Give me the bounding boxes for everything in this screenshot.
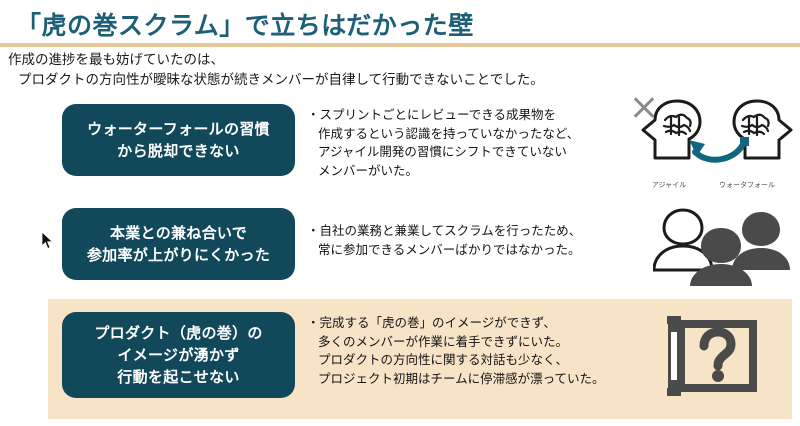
illustration-caption-right: ウォータフォール: [711, 180, 783, 190]
issue-label-pill: プロダクト（虎の巻）の イメージが湧かず 行動を起こせない: [62, 312, 295, 398]
illustration-caption-left: アジャイル: [641, 180, 697, 190]
issue-label-pill: 本業との兼ね合いで 参加率が上がりにくかった: [62, 208, 295, 280]
desc-line: 常に参加できるメンバーばかりではなかった。: [307, 241, 625, 260]
issue-row: 本業との兼ね合いで 参加率が上がりにくかった ・自社の業務と兼業してスクラムを行…: [0, 208, 800, 288]
title-divider: [0, 43, 800, 47]
desc-line: 作成するという認識を持っていなかったなど、: [307, 125, 625, 144]
desc-line: アジャイル開発の習慣にシフトできていない: [307, 143, 625, 162]
desc-line: メンバーがいた。: [307, 162, 625, 181]
lead-line-2: プロダクトの方向性が曖昧な状態が続きメンバーが自律して行動できないことでした。: [8, 70, 544, 90]
page-title: 「虎の巻スクラム」で立ちはだかった壁: [16, 6, 474, 42]
desc-line: ・スプリントごとにレビューできる成果物を: [307, 106, 625, 125]
issue-label-line: 行動を起こせない: [117, 366, 239, 388]
issue-row: ウォーターフォールの習慣 から脱却できない ・スプリントごとにレビューできる成果…: [0, 104, 800, 188]
issue-label-line: イメージが湧かず: [117, 344, 239, 366]
question-board-easel-icon: [657, 314, 765, 404]
issue-label-line: プロダクト（虎の巻）の: [94, 322, 262, 344]
issue-description: ・スプリントごとにレビューできる成果物を 作成するという認識を持っていなかったな…: [307, 104, 625, 180]
lead-line-1: 作成の進捗を最も妨げていたのは、: [8, 50, 544, 70]
issue-label-line: 本業との兼ね合いで: [110, 222, 247, 244]
issue-label-pill: ウォーターフォールの習慣 から脱却できない: [62, 104, 295, 176]
slide-canvas: 「虎の巻スクラム」で立ちはだかった壁 作成の進捗を最も妨げていたのは、 プロダク…: [0, 0, 800, 426]
three-people-silhouette-icon: [653, 204, 800, 290]
lead-paragraph: 作成の進捗を最も妨げていたのは、 プロダクトの方向性が曖昧な状態が続きメンバーが…: [8, 50, 544, 90]
desc-line: プロジェクト初期はチームに停滞感が漂っていた。: [307, 370, 625, 389]
issue-row: プロダクト（虎の巻）の イメージが湧かず 行動を起こせない ・完成する「虎の巻」…: [0, 312, 800, 406]
desc-line: 多くのメンバーが作業に着手できずにいた。: [307, 333, 625, 352]
desc-line: プロダクトの方向性に関する対話も少なく、: [307, 351, 625, 370]
issue-illustration: [625, 312, 800, 406]
issue-illustration: アジャイル ウォータフォール: [625, 104, 800, 188]
issue-description: ・完成する「虎の巻」のイメージができず、 多くのメンバーが作業に着手できずにいた…: [307, 312, 625, 388]
issue-label-line: 参加率が上がりにくかった: [87, 244, 270, 266]
issue-illustration: [625, 208, 800, 288]
issue-label-line: ウォーターフォールの習慣: [87, 118, 270, 140]
issue-label-line: から脱却できない: [117, 140, 239, 162]
desc-line: ・自社の業務と兼業してスクラムを行ったため、: [307, 222, 625, 241]
desc-line: ・完成する「虎の巻」のイメージができず、: [307, 314, 625, 333]
mindset-shift-heads-icon: [637, 96, 797, 180]
issue-description: ・自社の業務と兼業してスクラムを行ったため、 常に参加できるメンバーばかりではな…: [307, 208, 625, 259]
